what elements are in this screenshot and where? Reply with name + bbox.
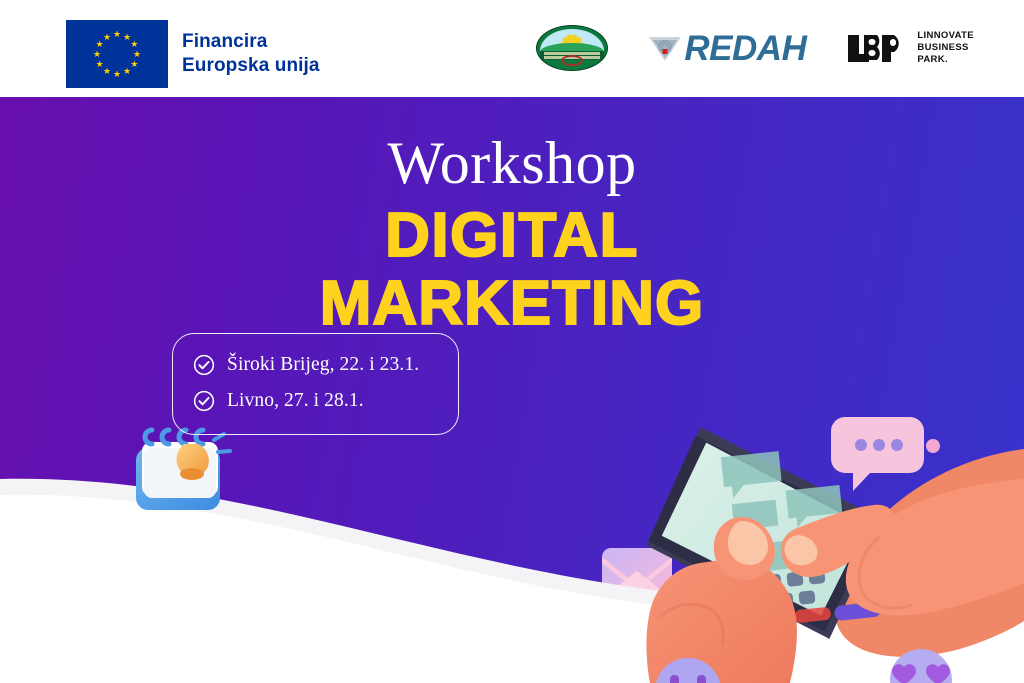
title-block: Workshop DIGITAL MARKETING: [0, 133, 1024, 336]
poster-body: Workshop DIGITAL MARKETING Široki Brijeg…: [0, 97, 1024, 683]
redah-wordmark: REDAH: [684, 31, 806, 66]
eu-text-line2: Europska unija: [182, 54, 320, 78]
heart-eyes-emoji-icon: [890, 649, 952, 683]
lbp-wordmark: LINNOVATE BUSINESS PARK.: [917, 30, 974, 66]
title-line-digital: DIGITAL: [385, 201, 639, 270]
partner-logos: REDAH LINNOVATE BUSINESS PARK.: [536, 25, 974, 71]
schedule-box: Široki Brijeg, 22. i 23.1. Livno, 27. i …: [172, 333, 459, 435]
calendar-bell-icon: [126, 422, 232, 524]
lbp-monogram-icon: [846, 33, 908, 64]
deco-dot: [931, 646, 953, 668]
envelope-icon: [602, 548, 672, 600]
poster: ★★★★★★★★★★★★ Financira Europska unija: [0, 0, 1024, 683]
right-forearm: [835, 449, 1024, 657]
deco-dot: [584, 598, 590, 604]
deco-dot: [678, 627, 690, 639]
phone: [635, 409, 896, 657]
redah-triangle-icon: [648, 34, 682, 62]
page-title-script: Workshop: [0, 133, 1024, 193]
eu-text-line1: Financira: [182, 30, 320, 54]
speech-bubble-icon: [831, 417, 924, 491]
check-circle-icon: [193, 354, 215, 376]
smiley-emoji-icon: [655, 658, 721, 683]
paper-plane-icon: [941, 455, 1007, 500]
title-line-marketing: MARKETING: [0, 272, 1024, 336]
schedule-item-text: Livno, 27. i 28.1.: [227, 390, 364, 411]
deco-dot: [862, 626, 870, 634]
list-item: Široki Brijeg, 22. i 23.1.: [193, 354, 436, 376]
lbp-logo: LINNOVATE BUSINESS PARK.: [846, 30, 974, 66]
chat-message-icon: [599, 619, 671, 681]
lbp-line1: LINNOVATE: [917, 30, 974, 42]
deco-dot: [907, 459, 917, 469]
header-logo-bar: ★★★★★★★★★★★★ Financira Europska unija: [0, 0, 1024, 97]
eu-funding-logo: ★★★★★★★★★★★★ Financira Europska unija: [66, 20, 320, 88]
eu-flag-icon: ★★★★★★★★★★★★: [66, 20, 168, 88]
schedule-item-text: Široki Brijeg, 22. i 23.1.: [227, 354, 419, 375]
right-hand: [781, 479, 1024, 615]
page-title-main: DIGITAL MARKETING: [0, 204, 1024, 336]
redah-logo: REDAH: [648, 31, 806, 66]
emblem-agency-logo-icon: [536, 25, 608, 71]
list-item: Livno, 27. i 28.1.: [193, 390, 436, 412]
lbp-line2: BUSINESS: [917, 42, 974, 54]
left-hand: [646, 517, 797, 683]
deco-dot: [926, 439, 940, 453]
check-circle-icon: [193, 390, 215, 412]
eu-funding-text: Financira Europska unija: [182, 30, 320, 79]
lbp-line3: PARK.: [917, 54, 974, 66]
deco-dot: [828, 672, 844, 683]
